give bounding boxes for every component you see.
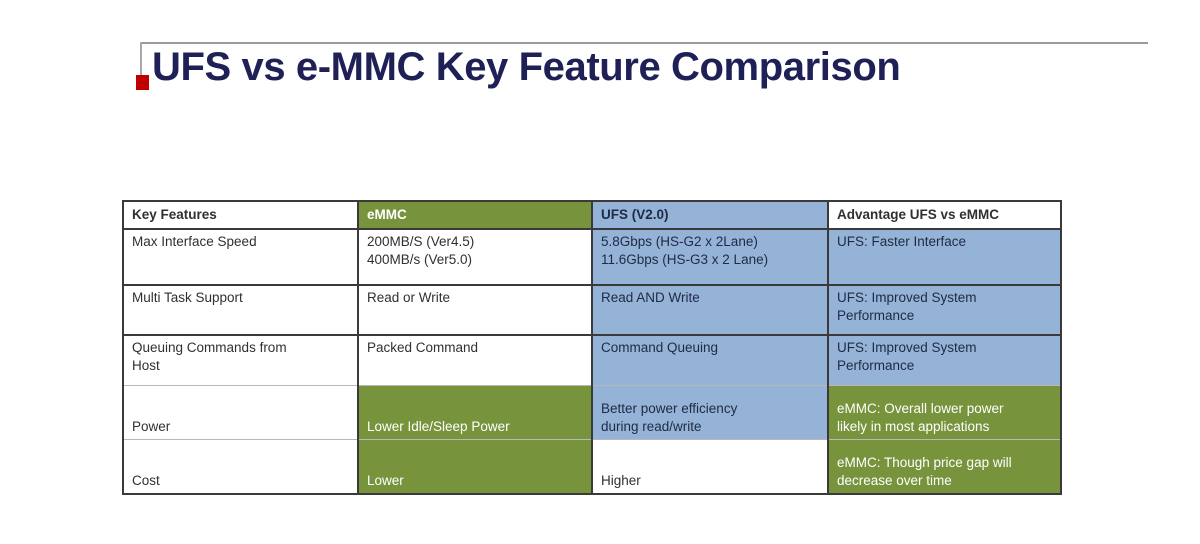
cell-line: Power — [132, 418, 350, 436]
cell-line: 11.6Gbps (HS-G3 x 2 Lane) — [601, 251, 820, 269]
cell-ufs: Read AND Write — [592, 285, 828, 335]
cell-line: UFS: Improved System — [837, 339, 1053, 357]
table-row: Queuing Commands from Host Packed Comman… — [123, 335, 1061, 385]
table-row: Cost Lower Higher eMMC: Though price gap… — [123, 439, 1061, 494]
column-header-ufs: UFS (V2.0) — [592, 201, 828, 229]
cell-line: Multi Task Support — [132, 289, 350, 307]
cell-line: Performance — [837, 307, 1053, 325]
cell-emmc: Read or Write — [358, 285, 592, 335]
cell-line: Read or Write — [367, 289, 584, 307]
cell-advantage: UFS: Improved System Performance — [828, 335, 1061, 385]
cell-line: Max Interface Speed — [132, 233, 350, 251]
red-square-bullet-icon — [136, 75, 149, 90]
cell-line: Read AND Write — [601, 289, 820, 307]
cell-emmc: Packed Command — [358, 335, 592, 385]
cell-line: Higher — [601, 472, 820, 490]
cell-line: UFS: Improved System — [837, 289, 1053, 307]
cell-feature: Queuing Commands from Host — [123, 335, 358, 385]
title-bullet-stem — [140, 42, 142, 78]
cell-line: 400MB/s (Ver5.0) — [367, 251, 584, 269]
table-row: Max Interface Speed 200MB/S (Ver4.5) 400… — [123, 229, 1061, 285]
cell-line: Command Queuing — [601, 339, 820, 357]
cell-line: Packed Command — [367, 339, 584, 357]
cell-line: eMMC: Though price gap will — [837, 454, 1053, 472]
cell-feature: Max Interface Speed — [123, 229, 358, 285]
cell-advantage: eMMC: Overall lower power likely in most… — [828, 385, 1061, 439]
cell-line: 200MB/S (Ver4.5) — [367, 233, 584, 251]
table-row: Power Lower Idle/Sleep Power Better powe… — [123, 385, 1061, 439]
cell-ufs: Better power efficiency during read/writ… — [592, 385, 828, 439]
cell-line: 5.8Gbps (HS-G2 x 2Lane) — [601, 233, 820, 251]
cell-line: Lower Idle/Sleep Power — [367, 418, 584, 436]
cell-line: Performance — [837, 357, 1053, 375]
cell-line: eMMC: Overall lower power — [837, 400, 1053, 418]
cell-advantage: eMMC: Though price gap will decrease ove… — [828, 439, 1061, 494]
cell-line: Queuing Commands from — [132, 339, 350, 357]
cell-emmc: Lower Idle/Sleep Power — [358, 385, 592, 439]
cell-line: Better power efficiency — [601, 400, 820, 418]
cell-advantage: UFS: Improved System Performance — [828, 285, 1061, 335]
cell-line: likely in most applications — [837, 418, 1053, 436]
table-row: Multi Task Support Read or Write Read AN… — [123, 285, 1061, 335]
cell-ufs: Command Queuing — [592, 335, 828, 385]
table-header-row: Key Features eMMC UFS (V2.0) Advantage U… — [123, 201, 1061, 229]
cell-ufs: Higher — [592, 439, 828, 494]
cell-emmc: Lower — [358, 439, 592, 494]
column-header-emmc: eMMC — [358, 201, 592, 229]
cell-line: decrease over time — [837, 472, 1053, 490]
cell-feature: Cost — [123, 439, 358, 494]
page-title: UFS vs e-MMC Key Feature Comparison — [152, 43, 900, 91]
cell-feature: Multi Task Support — [123, 285, 358, 335]
cell-advantage: UFS: Faster Interface — [828, 229, 1061, 285]
ufs-vs-emmc-comparison-table: Key Features eMMC UFS (V2.0) Advantage U… — [122, 200, 1062, 495]
cell-feature: Power — [123, 385, 358, 439]
column-header-key-features: Key Features — [123, 201, 358, 229]
cell-line: during read/write — [601, 418, 820, 436]
cell-line: Lower — [367, 472, 584, 490]
cell-line: Host — [132, 357, 350, 375]
cell-line: Cost — [132, 472, 350, 490]
cell-line: UFS: Faster Interface — [837, 233, 1053, 251]
cell-emmc: 200MB/S (Ver4.5) 400MB/s (Ver5.0) — [358, 229, 592, 285]
cell-ufs: 5.8Gbps (HS-G2 x 2Lane) 11.6Gbps (HS-G3 … — [592, 229, 828, 285]
column-header-advantage: Advantage UFS vs eMMC — [828, 201, 1061, 229]
